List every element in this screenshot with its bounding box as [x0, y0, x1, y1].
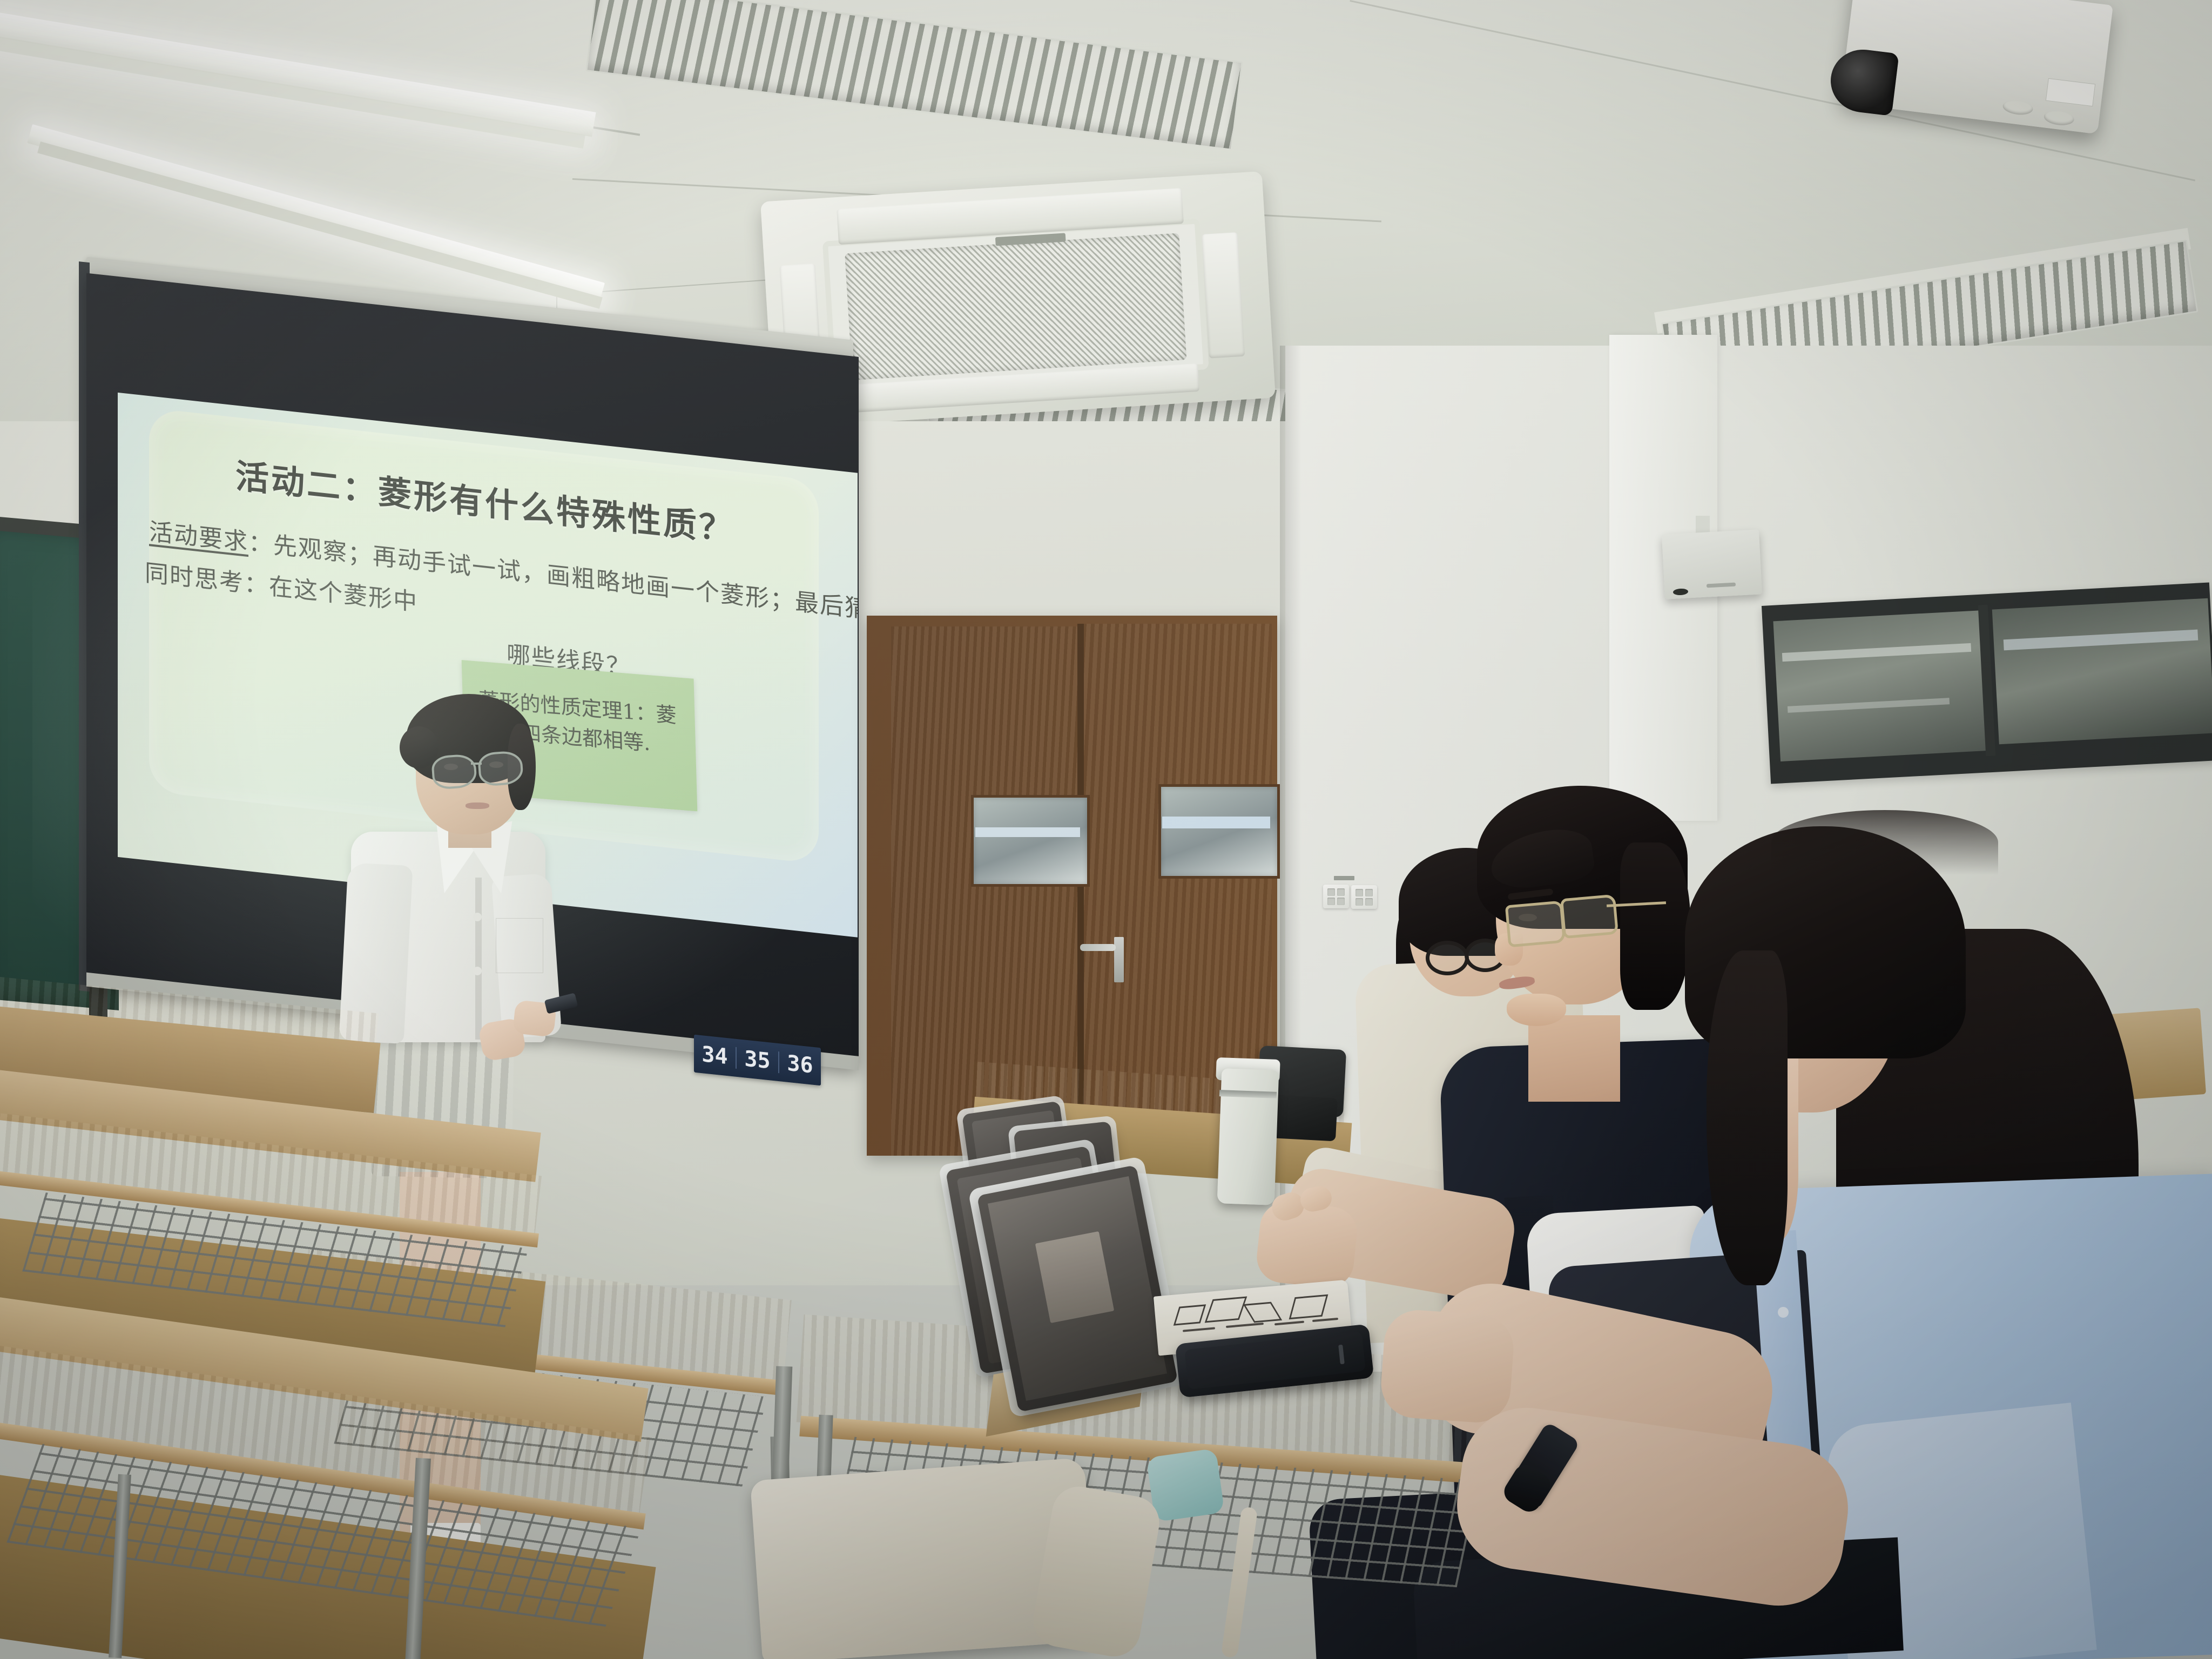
door-window-left: [971, 795, 1090, 887]
door-window-right: [1158, 784, 1280, 879]
student-middle-hand: [1255, 1199, 1360, 1290]
presenter-mouth: [466, 802, 489, 809]
presenter-shirt-pocket: [496, 918, 543, 973]
student-middle-hair-side: [1620, 842, 1690, 1010]
presenter-shirt-button: [473, 913, 482, 921]
student-back-glasses-lens-left: [1426, 941, 1469, 975]
seat-number: 36: [779, 1051, 821, 1077]
student-front-hair-front: [1707, 950, 1788, 1285]
light-switch-panel-right[interactable]: [1351, 885, 1377, 909]
ac-intake-grid: [845, 233, 1186, 380]
door-window-reflection: [1162, 817, 1270, 828]
seat-number: 34: [694, 1043, 737, 1069]
student-middle-glasses-lens-left: [1505, 901, 1566, 948]
seat-number: 35: [737, 1047, 779, 1073]
student-middle-chin: [1507, 994, 1566, 1026]
door-window-reflection: [975, 827, 1080, 837]
classroom-photo: 活动二：菱形有什么特殊性质？ 活动要求：先观察；再动手试一试，画粗略地画一个菱形…: [0, 0, 2212, 1659]
rhombus-sketch: [1289, 1294, 1328, 1320]
presenter-glasses-bridge: [471, 763, 482, 765]
window-pane-right: [1992, 598, 2212, 745]
switch-brand-label: [1334, 876, 1354, 880]
projector-foot: [2043, 109, 2075, 127]
bag-pouch[interactable]: [1146, 1448, 1224, 1522]
presenter-shirt-placket: [475, 878, 482, 1040]
door-handle-plate[interactable]: [1114, 937, 1124, 982]
window-pane-left: [1773, 610, 1991, 761]
presenter-shirt-button: [473, 967, 482, 975]
ac-vane-right: [1202, 232, 1245, 359]
student-front-shirt-button: [1778, 1307, 1789, 1318]
student-front-hair-wisps: [1771, 810, 1998, 875]
student-middle-neck: [1528, 1015, 1620, 1102]
presenter-hair-bun: [400, 726, 439, 768]
projector-foot: [2002, 99, 2034, 117]
white-thermos[interactable]: [1217, 1068, 1279, 1205]
light-switch-panel-left[interactable]: [1323, 885, 1349, 908]
student-middle-glasses-lens-right: [1560, 894, 1618, 939]
door-lever-handle[interactable]: [1080, 944, 1116, 951]
student-front-hand: [1379, 1308, 1515, 1425]
